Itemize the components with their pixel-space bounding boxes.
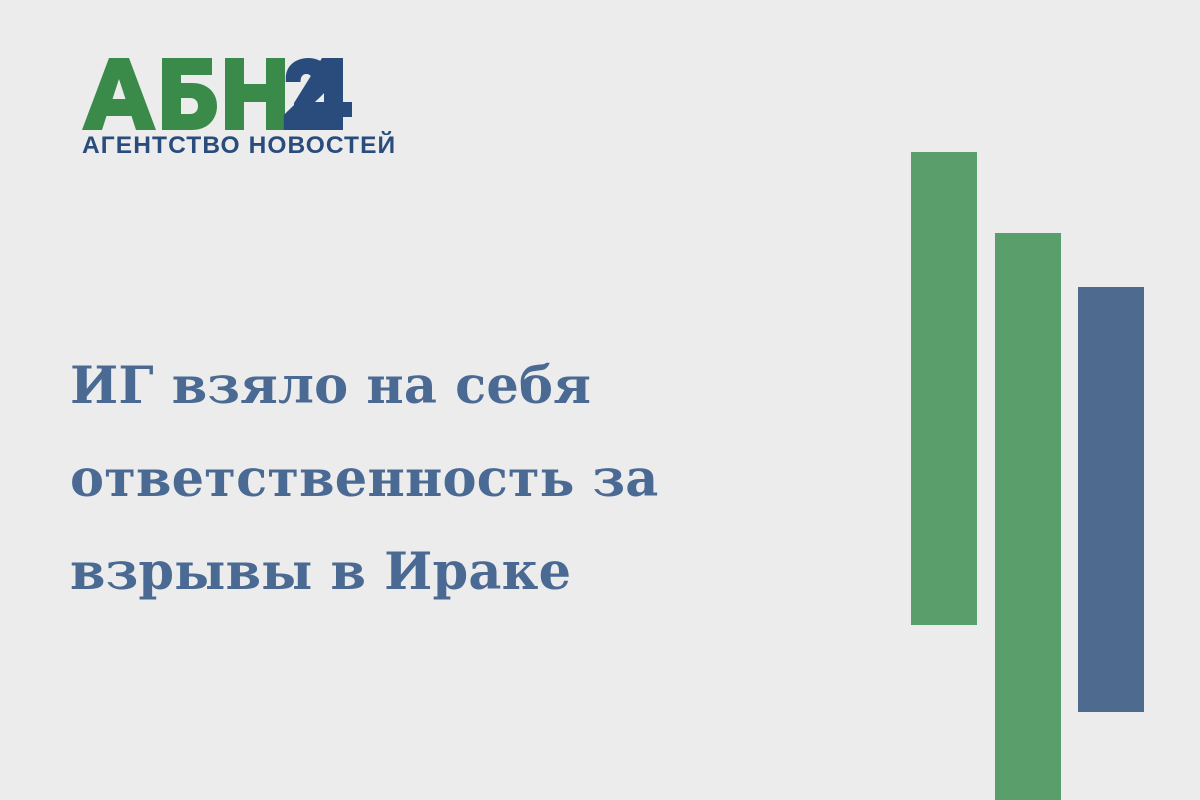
brand-tagline: АГЕНТСТВО НОВОСТЕЙ	[82, 134, 372, 159]
chart-bar-2	[995, 233, 1061, 800]
page-title: ИГ взяло на себя ответственность за взры…	[70, 340, 880, 619]
chart-bar-1	[911, 152, 977, 625]
brand-logo[interactable]: АГЕНТСТВО НОВОСТЕЙ	[82, 58, 372, 159]
brand-wordmark-icon	[82, 58, 354, 130]
chart-bar-3	[1078, 287, 1144, 712]
news-card: АГЕНТСТВО НОВОСТЕЙ ИГ взяло на себя отве…	[0, 0, 1200, 800]
